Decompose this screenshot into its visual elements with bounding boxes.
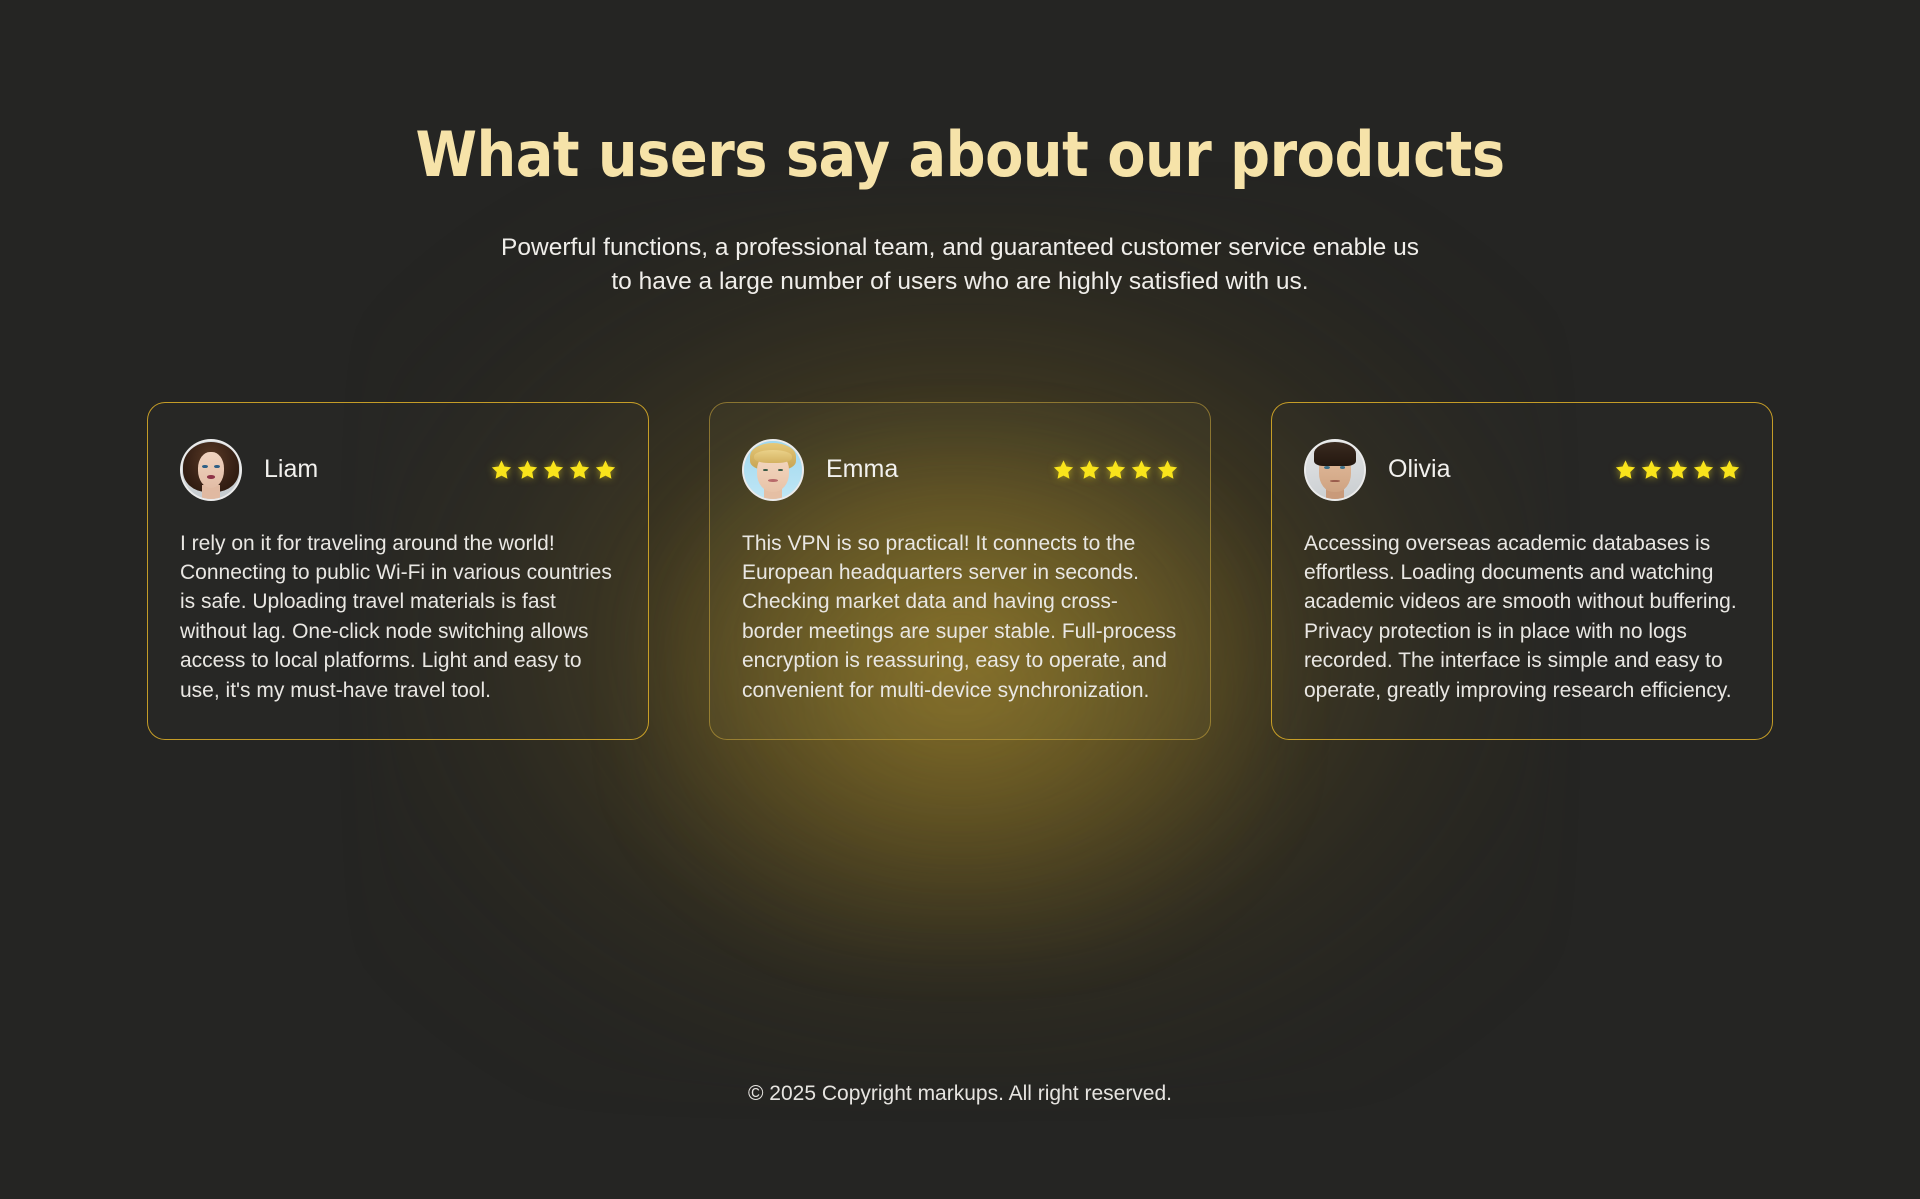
star-icon — [1131, 459, 1152, 480]
star-icon — [1693, 459, 1714, 480]
reviewer-name: Olivia — [1388, 455, 1451, 484]
testimonial-text: This VPN is so practical! It connects to… — [742, 529, 1178, 705]
star-icon — [1615, 459, 1636, 480]
testimonial-card[interactable]: Olivia Accessing overseas academic datab… — [1271, 402, 1773, 740]
testimonial-header: Olivia — [1304, 439, 1740, 501]
star-icon — [569, 459, 590, 480]
star-icon — [1105, 459, 1126, 480]
testimonial-card-list: Liam I rely on it for traveling around t… — [147, 402, 1773, 740]
testimonial-text: I rely on it for traveling around the wo… — [180, 529, 616, 705]
avatar-blond-person-icon — [742, 439, 804, 501]
page-subtitle: Powerful functions, a professional team,… — [501, 231, 1419, 299]
star-icon — [491, 459, 512, 480]
rating-stars — [491, 459, 616, 480]
testimonial-header: Emma — [742, 439, 1178, 501]
testimonial-card[interactable]: Emma This VPN is so practical! It connec… — [709, 402, 1211, 740]
star-icon — [1079, 459, 1100, 480]
footer-copyright: © 2025 Copyright markups. All right rese… — [0, 1082, 1920, 1106]
star-icon — [595, 459, 616, 480]
star-icon — [1667, 459, 1688, 480]
page-title: What users say about our products — [415, 122, 1504, 187]
reviewer-name: Liam — [264, 455, 318, 484]
subtitle-line-2: to have a large number of users who are … — [501, 265, 1419, 299]
avatar-dark-haired-man-icon — [1304, 439, 1366, 501]
rating-stars — [1615, 459, 1740, 480]
subtitle-line-1: Powerful functions, a professional team,… — [501, 231, 1419, 265]
star-icon — [1719, 459, 1740, 480]
testimonials-page: What users say about our products Powerf… — [0, 0, 1920, 1199]
star-icon — [517, 459, 538, 480]
star-icon — [1157, 459, 1178, 480]
star-icon — [543, 459, 564, 480]
star-icon — [1053, 459, 1074, 480]
testimonial-header: Liam — [180, 439, 616, 501]
star-icon — [1641, 459, 1662, 480]
avatar-woman-curly-hair-icon — [180, 439, 242, 501]
testimonial-card[interactable]: Liam I rely on it for traveling around t… — [147, 402, 649, 740]
testimonial-text: Accessing overseas academic databases is… — [1304, 529, 1740, 705]
rating-stars — [1053, 459, 1178, 480]
reviewer-name: Emma — [826, 455, 898, 484]
